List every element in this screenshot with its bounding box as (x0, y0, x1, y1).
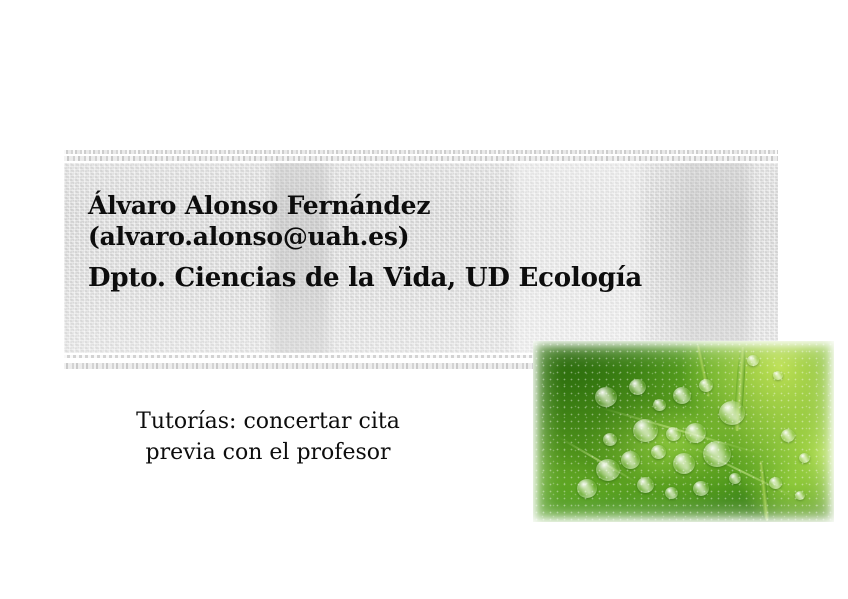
caption-line-2: previa con el profesor (68, 437, 468, 468)
water-droplet (621, 451, 640, 469)
leaf-photo-image (533, 341, 834, 522)
water-droplet (769, 477, 782, 489)
water-droplet (729, 473, 741, 484)
water-droplet (673, 453, 695, 474)
author-email: (alvaro.alonso@uah.es) (88, 221, 728, 252)
title-text-block: Álvaro Alonso Fernández (alvaro.alonso@u… (88, 190, 728, 295)
water-droplet (685, 423, 706, 443)
water-droplet (673, 387, 691, 404)
water-droplet (699, 379, 713, 392)
department-line: Dpto. Ciencias de la Vida, UD Ecología (88, 261, 728, 295)
tutoring-caption: Tutorías: concertar cita previa con el p… (68, 406, 468, 468)
water-droplet (577, 479, 597, 498)
water-droplet (666, 427, 681, 441)
water-droplet (799, 453, 810, 463)
water-droplet (596, 459, 620, 481)
water-droplet (665, 487, 678, 499)
water-droplet (633, 419, 658, 442)
banner-top-rule-lower (64, 156, 778, 161)
water-droplet (637, 477, 654, 493)
water-droplet (719, 401, 745, 425)
water-droplet (629, 379, 646, 395)
leaf-photo (533, 341, 834, 522)
leaf-stem (758, 461, 770, 521)
slide-canvas: Álvaro Alonso Fernández (alvaro.alonso@u… (0, 0, 848, 599)
water-droplet (693, 481, 709, 496)
water-droplet (781, 429, 795, 442)
author-name: Álvaro Alonso Fernández (88, 190, 728, 221)
water-droplet (595, 387, 617, 407)
water-droplet (653, 399, 666, 411)
water-droplet (773, 371, 783, 380)
water-droplet (603, 433, 617, 446)
water-droplet (651, 445, 666, 459)
caption-line-1: Tutorías: concertar cita (68, 406, 468, 437)
water-droplet (795, 491, 805, 500)
water-droplet (747, 355, 759, 366)
banner-top-rule-upper (64, 150, 778, 154)
water-droplet (703, 441, 731, 467)
